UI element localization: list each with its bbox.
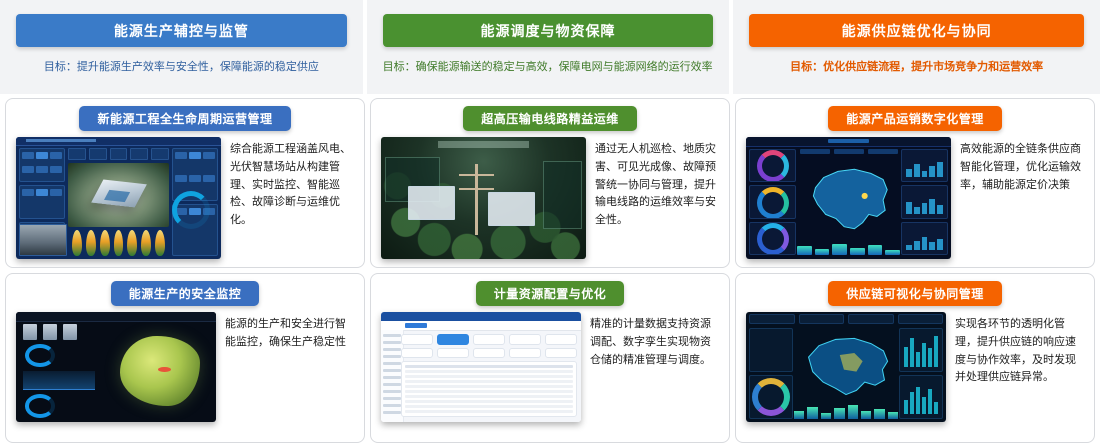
- category-title-supply-chain: 能源供应链优化与协同: [749, 14, 1084, 47]
- screenshot-metering-admin-table-ui: [381, 312, 581, 422]
- card-title: 超高压输电线路精益运维: [463, 106, 637, 131]
- card-title-wrap: 超高压输电线路精益运维: [381, 106, 719, 131]
- card-body: 实现各环节的透明化管理，提升供应链的响应速度与协作效率，及时发现并处理供应链异常…: [746, 312, 1084, 434]
- card-description: 实现各环节的透明化管理，提升供应链的响应速度与协作效率，及时发现并处理供应链异常…: [955, 312, 1084, 434]
- category-title-production: 能源生产辅控与监管: [16, 14, 347, 47]
- category-column-supply-chain: 能源供应链优化与协同 目标：优化供应链流程，提升市场竞争力和运营效率: [733, 0, 1100, 94]
- screenshot-supply-chain-map-dashboard: [746, 312, 946, 422]
- card-title: 能源产品运销数字化管理: [828, 106, 1002, 131]
- card-title-wrap: 能源产品运销数字化管理: [746, 106, 1084, 131]
- card-body: 精准的计量数据支持资源调配、数字孪生实现物资仓储的精准管理与调度。: [381, 312, 719, 434]
- card-title: 供应链可视化与协同管理: [828, 281, 1002, 306]
- china-map-shape: [797, 157, 900, 239]
- card-description: 精准的计量数据支持资源调配、数字孪生实现物资仓储的精准管理与调度。: [590, 312, 719, 434]
- solution-card[interactable]: 能源生产的安全监控 能源的生产和安全进行智能监控，确: [5, 273, 365, 443]
- screenshot-energy-sales-map-dashboard: [746, 137, 951, 259]
- card-description: 通过无人机巡检、地质灾害、可见光成像、故障预警统一协同与管理，提升输电线路的运维…: [595, 137, 719, 259]
- category-subtitle-production: 目标：提升能源生产效率与安全性，保障能源的稳定供应: [14, 59, 349, 76]
- solution-card[interactable]: 计量资源配置与优化: [370, 273, 730, 443]
- category-subtitle-supply-chain: 目标：优化供应链流程，提升市场竞争力和运营效率: [747, 59, 1086, 76]
- screenshot-new-energy-plant-dashboard: [16, 137, 221, 259]
- category-subtitle-dispatch: 目标：确保能源输送的稳定与高效，保障电网与能源网络的运行效率: [381, 59, 716, 76]
- energy-solution-overview-page: 能源生产辅控与监管 目标：提升能源生产效率与安全性，保障能源的稳定供应 能源调度…: [0, 0, 1100, 448]
- card-body: 高效能源的全链条供应商智能化管理，优化运输效率，辅助能源定价决策: [746, 137, 1084, 259]
- category-column-production: 能源生产辅控与监管 目标：提升能源生产效率与安全性，保障能源的稳定供应: [0, 0, 367, 94]
- category-column-dispatch: 能源调度与物资保障 目标：确保能源输送的稳定与高效，保障电网与能源网络的运行效率: [367, 0, 734, 94]
- solution-card[interactable]: 超高压输电线路精益运维 通过无人机巡检、地质灾害、可见光成像、故障预警统一协同与…: [370, 98, 730, 268]
- card-body: 综合能源工程涵盖风电、光伏智慧场站从构建管理、实时监控、智能巡检、故障诊断与运维…: [16, 137, 354, 259]
- card-title: 新能源工程全生命周期运营管理: [79, 106, 290, 131]
- card-title-wrap: 能源生产的安全监控: [16, 281, 354, 306]
- category-title-dispatch: 能源调度与物资保障: [383, 14, 714, 47]
- solution-card-grid: 新能源工程全生命周期运营管理: [0, 94, 1100, 448]
- card-title-wrap: 计量资源配置与优化: [381, 281, 719, 306]
- card-body: 能源的生产和安全进行智能监控，确保生产稳定性: [16, 312, 354, 434]
- solution-card[interactable]: 新能源工程全生命周期运营管理: [5, 98, 365, 268]
- card-title-wrap: 供应链可视化与协同管理: [746, 281, 1084, 306]
- china-map-shape: [794, 328, 898, 401]
- solution-card[interactable]: 能源产品运销数字化管理: [735, 98, 1095, 268]
- card-title: 能源生产的安全监控: [111, 281, 260, 306]
- card-description: 高效能源的全链条供应商智能化管理，优化运输效率，辅助能源定价决策: [960, 137, 1084, 259]
- card-description: 综合能源工程涵盖风电、光伏智慧场站从构建管理、实时监控、智能巡检、故障诊断与运维…: [230, 137, 354, 259]
- solution-card[interactable]: 供应链可视化与协同管理: [735, 273, 1095, 443]
- card-title-wrap: 新能源工程全生命周期运营管理: [16, 106, 354, 131]
- card-body: 通过无人机巡检、地质灾害、可见光成像、故障预警统一协同与管理，提升输电线路的运维…: [381, 137, 719, 259]
- screenshot-aerial-powerline-inspection: [381, 137, 586, 259]
- screenshot-terrain-3d-monitoring-dashboard: [16, 312, 216, 422]
- card-title: 计量资源配置与优化: [476, 281, 625, 306]
- card-description: 能源的生产和安全进行智能监控，确保生产稳定性: [225, 312, 354, 434]
- category-header-band: 能源生产辅控与监管 目标：提升能源生产效率与安全性，保障能源的稳定供应 能源调度…: [0, 0, 1100, 94]
